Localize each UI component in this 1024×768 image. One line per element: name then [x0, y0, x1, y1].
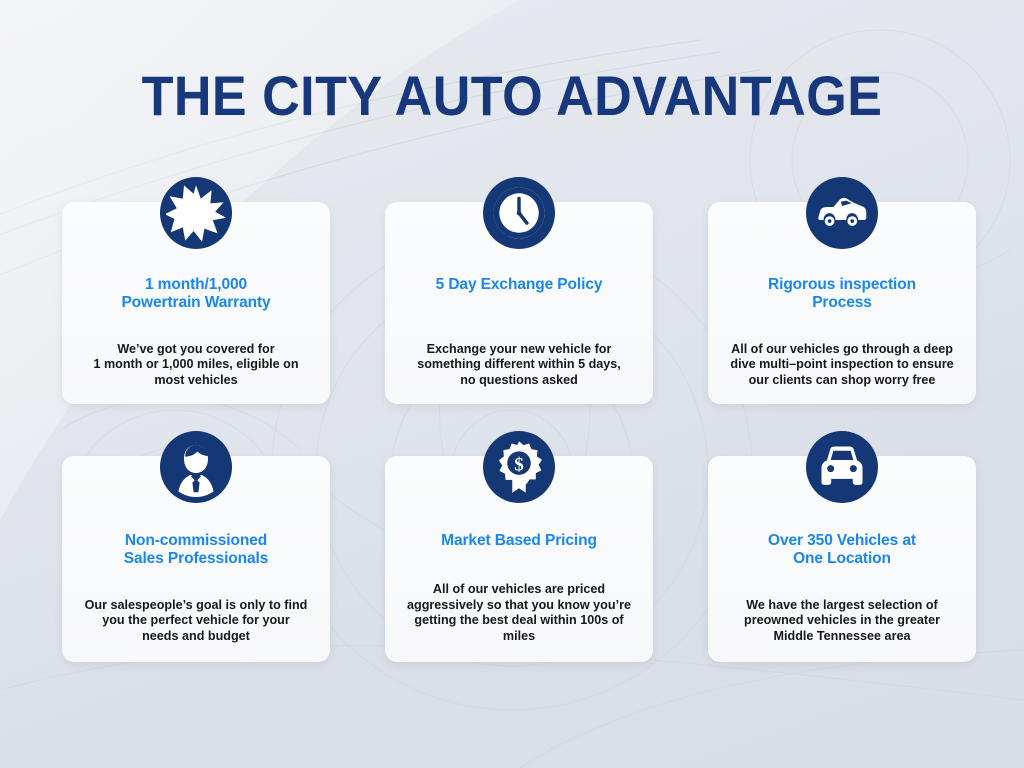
card-body-line: getting the best deal within 100s of mil… — [401, 613, 637, 644]
card-heading-line: Process — [722, 294, 962, 312]
car-side-icon — [806, 177, 878, 249]
salesperson-icon — [160, 431, 232, 503]
card-body-line: something different within 5 days, — [401, 357, 637, 373]
card-body: All of our vehicles go through a deep di… — [718, 342, 966, 389]
card-body: All of our vehicles are priced aggressiv… — [395, 582, 643, 644]
card-body-line: aggressively so that you know you’re — [401, 598, 637, 614]
advantage-card-exchange[interactable]: 5 Day Exchange Policy Exchange your new … — [385, 202, 653, 404]
card-heading: Rigorous inspection Process — [718, 276, 966, 312]
card-body: We’ve got you covered for 1 month or 1,0… — [72, 342, 320, 389]
clock-icon — [483, 177, 555, 249]
card-body-line: We’ve got you covered for — [78, 342, 314, 358]
advantage-infographic: THE CITY AUTO ADVANTAGE 1 month/1,000 Po… — [0, 0, 1024, 768]
starburst-icon — [160, 177, 232, 249]
card-heading-line: One Location — [722, 550, 962, 568]
card-heading-line: Non-commissioned — [76, 532, 316, 550]
dollar-badge-icon: $ — [483, 431, 555, 503]
card-body-line: Our salespeople’s goal is only to find — [78, 598, 314, 614]
card-body-line: most vehicles — [78, 373, 314, 389]
card-heading-line: Market Based Pricing — [399, 532, 639, 550]
card-heading-line: 1 month/1,000 — [76, 276, 316, 294]
card-body-line: We have the largest selection of — [724, 598, 960, 614]
card-body-line: you the perfect vehicle for your — [78, 613, 314, 629]
card-body-line: 1 month or 1,000 miles, eligible on — [78, 357, 314, 373]
card-body-line: Exchange your new vehicle for — [401, 342, 637, 358]
advantage-card-pricing[interactable]: $ Market Based Pricing All of our vehicl… — [385, 456, 653, 662]
page-title-wrapper: THE CITY AUTO ADVANTAGE — [0, 66, 1024, 126]
card-body-line: Middle Tennessee area — [724, 629, 960, 645]
card-heading-line: Rigorous inspection — [722, 276, 962, 294]
card-body-line: needs and budget — [78, 629, 314, 645]
card-body-line: All of our vehicles go through a deep — [724, 342, 960, 358]
card-heading-line: 5 Day Exchange Policy — [399, 276, 639, 294]
card-heading-line: Sales Professionals — [76, 550, 316, 568]
card-heading: Market Based Pricing — [395, 532, 643, 550]
car-front-icon — [806, 431, 878, 503]
advantage-card-warranty[interactable]: 1 month/1,000 Powertrain Warranty We’ve … — [62, 202, 330, 404]
page-title: THE CITY AUTO ADVANTAGE — [36, 66, 988, 126]
card-heading-line: Powertrain Warranty — [76, 294, 316, 312]
card-heading: Non-commissioned Sales Professionals — [72, 532, 320, 568]
advantage-card-grid: 1 month/1,000 Powertrain Warranty We’ve … — [62, 202, 976, 662]
card-body: Our salespeople’s goal is only to find y… — [72, 598, 320, 645]
card-body: We have the largest selection of preowne… — [718, 598, 966, 645]
card-body-line: preowned vehicles in the greater — [724, 613, 960, 629]
card-body-line: All of our vehicles are priced — [401, 582, 637, 598]
card-body: Exchange your new vehicle for something … — [395, 342, 643, 389]
advantage-card-salespeople[interactable]: Non-commissioned Sales Professionals Our… — [62, 456, 330, 662]
svg-text:$: $ — [514, 454, 524, 475]
card-body-line: dive multi–point inspection to ensure — [724, 357, 960, 373]
card-heading-line: Over 350 Vehicles at — [722, 532, 962, 550]
card-heading: 5 Day Exchange Policy — [395, 276, 643, 294]
card-body-line: our clients can shop worry free — [724, 373, 960, 389]
card-heading: 1 month/1,000 Powertrain Warranty — [72, 276, 320, 312]
advantage-card-inspection[interactable]: Rigorous inspection Process All of our v… — [708, 202, 976, 404]
card-heading: Over 350 Vehicles at One Location — [718, 532, 966, 568]
card-body-line: no questions asked — [401, 373, 637, 389]
advantage-card-inventory[interactable]: Over 350 Vehicles at One Location We hav… — [708, 456, 976, 662]
